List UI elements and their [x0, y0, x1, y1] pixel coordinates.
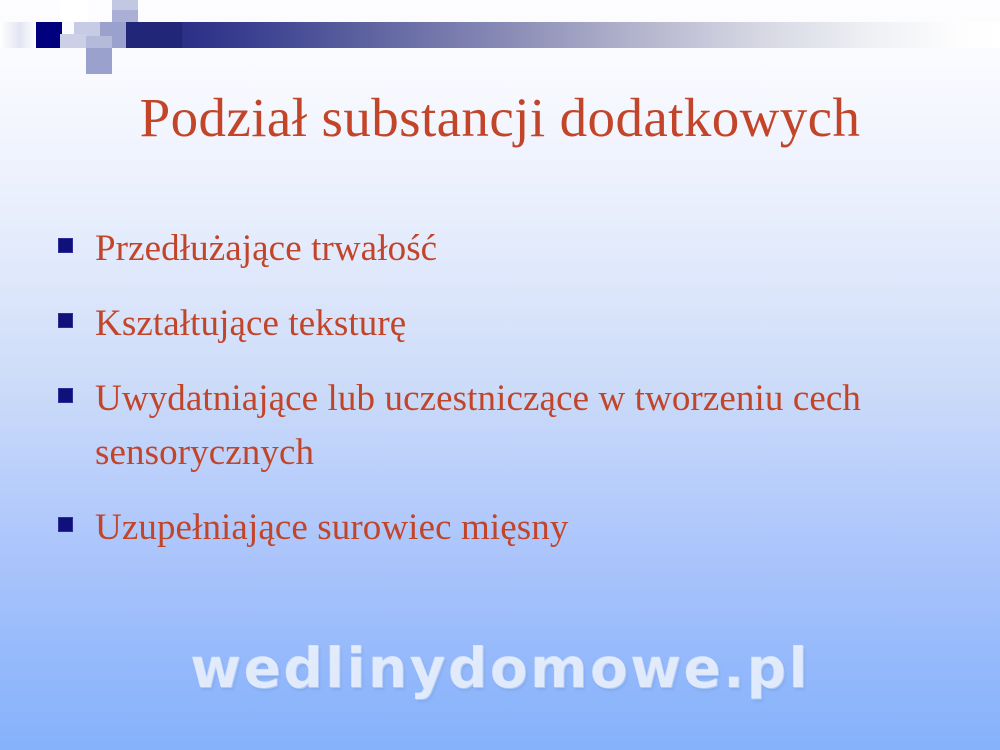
bullet-list: Przedłużające trwałość Kształtujące teks…	[58, 222, 958, 576]
bullet-text: Przedłużające trwałość	[95, 222, 958, 276]
title-container: Podział substancji dodatkowych	[0, 88, 1000, 147]
list-item: Uwydatniające lub uczestniczące w tworze…	[58, 372, 958, 480]
bullet-square-icon	[58, 313, 73, 328]
watermark: wedlinydomowe.pl	[0, 636, 1000, 700]
square-fade-left	[0, 22, 36, 48]
square-lavender-tall	[60, 34, 86, 48]
header-gradient-bar	[182, 22, 1000, 48]
bullet-text: Kształtujące teksturę	[95, 297, 958, 351]
square-pale-upper	[86, 36, 112, 48]
bullet-text: Uwydatniające lub uczestniczące w tworze…	[95, 372, 958, 480]
bullet-text: Uzupełniające surowiec mięsny	[95, 501, 958, 555]
list-item: Przedłużające trwałość	[58, 222, 958, 276]
list-item: Kształtujące teksturę	[58, 297, 958, 351]
presentation-slide: Podział substancji dodatkowych Przedłuża…	[0, 0, 1000, 750]
bullet-square-icon	[58, 238, 73, 253]
page-title: Podział substancji dodatkowych	[140, 88, 861, 147]
square-navy-solid	[36, 22, 62, 48]
square-deep-navy	[126, 22, 182, 48]
bullet-square-icon	[58, 388, 73, 403]
header-decoration	[0, 0, 1000, 62]
square-light-top	[60, 0, 88, 22]
square-bottom-blue	[86, 48, 112, 74]
bullet-square-icon	[58, 517, 73, 532]
list-item: Uzupełniające surowiec mięsny	[58, 501, 958, 555]
